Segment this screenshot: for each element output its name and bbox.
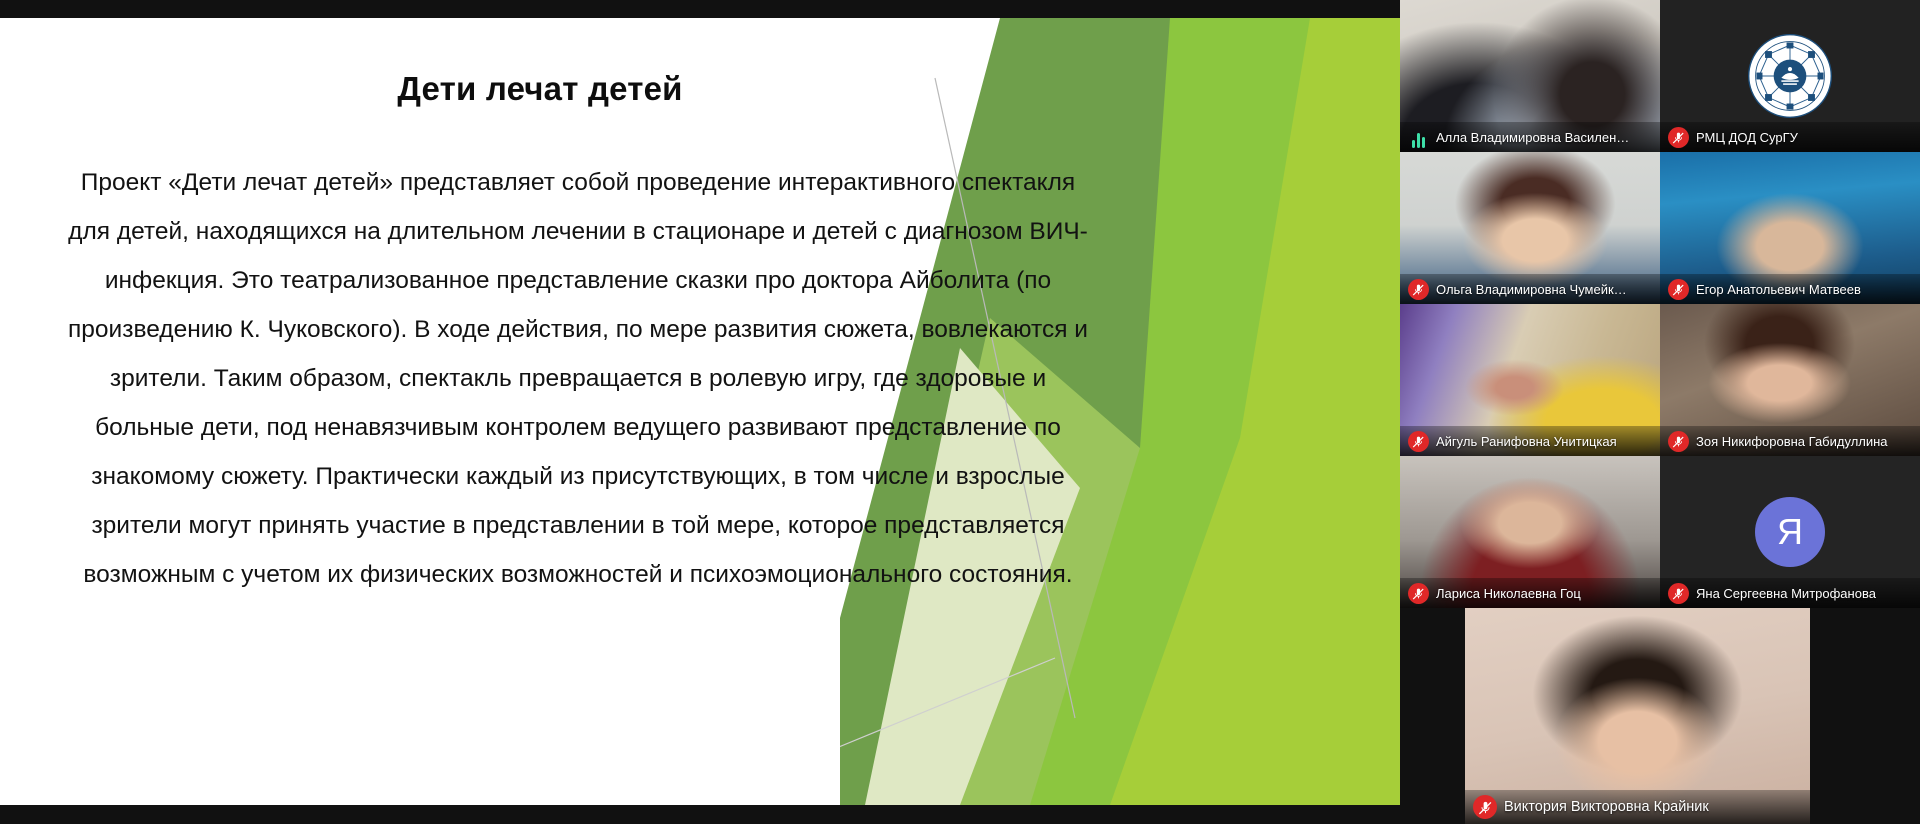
participant-name: Яна Сергеевна Митрофанова [1696, 586, 1876, 601]
participant-name: Ольга Владимировна Чумейк… [1436, 282, 1627, 297]
participant-name: Виктория Викторовна Крайник [1504, 799, 1709, 815]
participant-row: Ольга Владимировна Чумейк… Егор Анатолье… [1400, 152, 1920, 304]
participant-filmstrip[interactable]: Алла Владимировна Василен… [1400, 0, 1920, 824]
participant-tile-rmc-dod-surgu[interactable]: РМЦ ДОД СурГУ [1660, 0, 1920, 152]
participant-row: Виктория Викторовна Крайник [1400, 608, 1920, 824]
participant-tile-larisa[interactable]: Лариса Николаевна Гоц [1400, 456, 1660, 608]
mic-muted-icon [1668, 279, 1689, 300]
participant-tile-aigul[interactable]: Айгуль Ранифовна Унитицкая [1400, 304, 1660, 456]
participant-tile-alla[interactable]: Алла Владимировна Василен… [1400, 0, 1660, 152]
mic-muted-icon [1408, 431, 1429, 452]
audio-level-icon [1408, 127, 1429, 148]
participant-namebar: Айгуль Ранифовна Унитицкая [1400, 426, 1660, 456]
participant-tile-olga[interactable]: Ольга Владимировна Чумейк… [1400, 152, 1660, 304]
mic-muted-icon [1668, 431, 1689, 452]
shared-screen-stage[interactable]: Дети лечат детей Проект «Дети лечат дете… [0, 0, 1400, 824]
participant-name: Егор Анатольевич Матвеев [1696, 282, 1861, 297]
participant-namebar: Виктория Викторовна Крайник [1465, 790, 1810, 824]
mic-muted-icon [1408, 279, 1429, 300]
organization-logo-icon [1747, 33, 1833, 119]
mic-muted-icon [1668, 583, 1689, 604]
participant-namebar: Лариса Николаевна Гоц [1400, 578, 1660, 608]
participant-tile-yana[interactable]: Я Яна Сергеевна Митрофанова [1660, 456, 1920, 608]
participant-name: Алла Владимировна Василен… [1436, 130, 1629, 145]
participant-name: РМЦ ДОД СурГУ [1696, 130, 1798, 145]
participant-name: Айгуль Ранифовна Унитицкая [1436, 434, 1617, 449]
mic-muted-icon [1408, 583, 1429, 604]
avatar: Я [1755, 497, 1825, 567]
mic-muted-icon [1668, 127, 1689, 148]
participant-tile-viktoria[interactable]: Виктория Викторовна Крайник [1465, 608, 1810, 824]
participant-row: Айгуль Ранифовна Унитицкая Зоя Никифоров… [1400, 304, 1920, 456]
participant-name: Лариса Николаевна Гоц [1436, 586, 1581, 601]
presentation-slide[interactable]: Дети лечат детей Проект «Дети лечат дете… [0, 18, 1400, 805]
participant-namebar: Ольга Владимировна Чумейк… [1400, 274, 1660, 304]
participant-row: Лариса Николаевна Гоц Я Яна Сергеевна Ми… [1400, 456, 1920, 608]
participant-namebar: Зоя Никифоровна Габидуллина [1660, 426, 1920, 456]
participant-namebar: Алла Владимировна Василен… [1400, 122, 1660, 152]
mic-muted-icon [1473, 795, 1497, 819]
participant-namebar: Яна Сергеевна Митрофанова [1660, 578, 1920, 608]
participant-row: Алла Владимировна Василен… [1400, 0, 1920, 152]
slide-title: Дети лечат детей [0, 70, 1080, 108]
video-conference-window: Дети лечат детей Проект «Дети лечат дете… [0, 0, 1920, 824]
participant-namebar: Егор Анатольевич Матвеев [1660, 274, 1920, 304]
participant-namebar: РМЦ ДОД СурГУ [1660, 122, 1920, 152]
participant-tile-zoya[interactable]: Зоя Никифоровна Габидуллина [1660, 304, 1920, 456]
slide-body-text: Проект «Дети лечат детей» представляет с… [68, 158, 1088, 599]
participant-tile-egor[interactable]: Егор Анатольевич Матвеев [1660, 152, 1920, 304]
participant-name: Зоя Никифоровна Габидуллина [1696, 434, 1888, 449]
